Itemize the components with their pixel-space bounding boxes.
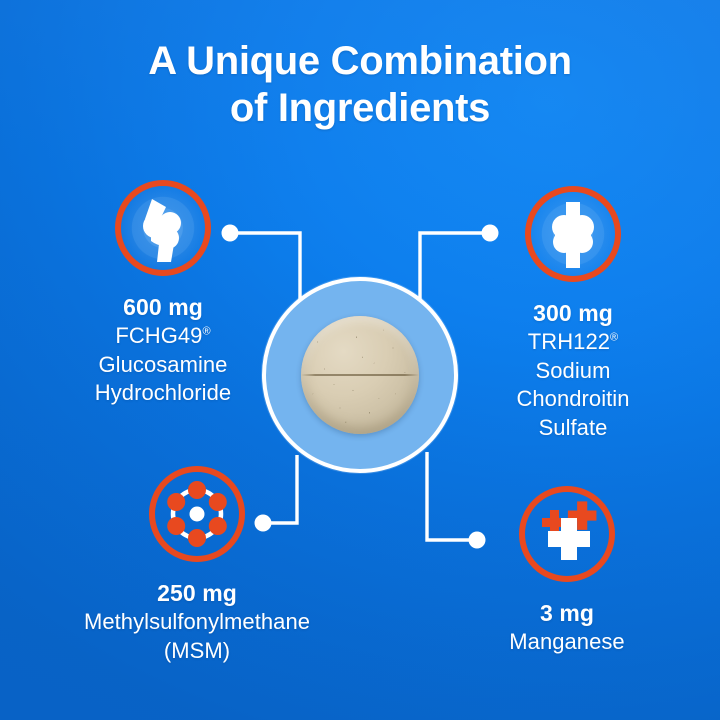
ingredient-msm[interactable]: 250 mg Methylsulfonylmethane (MSM) xyxy=(47,466,347,665)
dose-label: 250 mg xyxy=(47,579,347,607)
brand-code: TRH122 xyxy=(528,329,610,354)
dose-label: 600 mg xyxy=(28,293,298,321)
name-line-2: Sodium xyxy=(536,358,611,383)
name-line-4: Sulfate xyxy=(539,415,608,440)
name-line-3: Chondroitin xyxy=(516,386,629,411)
ingredient-manganese[interactable]: 3 mg Manganese xyxy=(442,486,692,657)
ingredient-name: Methylsulfonylmethane (MSM) xyxy=(47,608,347,665)
ingredient-name: Manganese xyxy=(442,628,692,657)
molecule-ring-icon xyxy=(149,466,245,562)
dose-label: 3 mg xyxy=(442,599,692,627)
registered-mark: ® xyxy=(610,332,618,344)
registered-mark: ® xyxy=(202,326,210,338)
brand-code: FCHG49 xyxy=(115,323,202,348)
bent-knee-joint-icon xyxy=(115,180,211,276)
ingredient-chondroitin[interactable]: 300 mg TRH122® Sodium Chondroitin Sulfat… xyxy=(438,186,708,442)
name-line-1: Methylsulfonylmethane xyxy=(84,609,310,634)
straight-bone-joint-icon xyxy=(525,186,621,282)
name-line-2: Glucosamine xyxy=(99,352,228,377)
infographic-canvas: A Unique Combination of Ingredients xyxy=(0,0,720,720)
tablet-icon xyxy=(301,316,419,434)
ingredient-name: FCHG49® Glucosamine Hydrochloride xyxy=(28,322,298,408)
name-line-1: Manganese xyxy=(509,629,624,654)
medical-cross-icon xyxy=(519,486,615,582)
name-line-3: Hydrochloride xyxy=(95,380,231,405)
ingredient-name: TRH122® Sodium Chondroitin Sulfate xyxy=(438,328,708,442)
tablet-speckle-texture xyxy=(301,316,419,434)
dose-label: 300 mg xyxy=(438,299,708,327)
ingredient-glucosamine[interactable]: 600 mg FCHG49® Glucosamine Hydrochloride xyxy=(28,180,298,408)
name-line-2: (MSM) xyxy=(164,638,230,663)
